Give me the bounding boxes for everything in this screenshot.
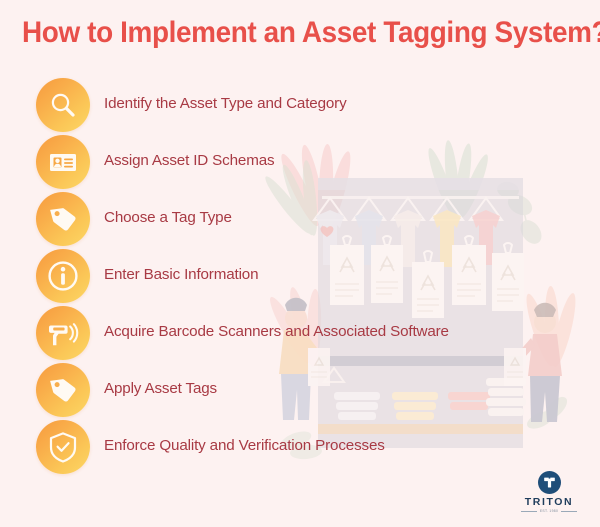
step-row: Enter Basic Information [0, 247, 600, 304]
brand-tagline: EST. 1980 [521, 510, 577, 513]
tagline-rule-left [521, 511, 537, 512]
tag-icon [36, 192, 90, 246]
brand-logo[interactable]: TRITON EST. 1980 [518, 471, 580, 513]
step-label: Choose a Tag Type [104, 210, 232, 227]
step-label: Identify the Asset Type and Category [104, 96, 347, 113]
title-bar: How to Implement an Asset Tagging System… [0, 0, 600, 66]
page-title: How to Implement an Asset Tagging System… [22, 16, 600, 50]
id-card-icon [36, 135, 90, 189]
step-row: Assign Asset ID Schemas [0, 133, 600, 190]
magnifier-icon [36, 78, 90, 132]
step-row: Acquire Barcode Scanners and Associated … [0, 304, 600, 361]
tagline-rule-right [561, 511, 577, 512]
step-row: Enforce Quality and Verification Process… [0, 418, 600, 475]
step-label: Enforce Quality and Verification Process… [104, 438, 385, 455]
step-label: Assign Asset ID Schemas [104, 153, 274, 170]
shield-check-icon [36, 420, 90, 474]
step-label: Apply Asset Tags [104, 381, 217, 398]
step-label: Acquire Barcode Scanners and Associated … [104, 324, 449, 341]
step-row: Identify the Asset Type and Category [0, 76, 600, 133]
steps-list: Identify the Asset Type and Category Ass… [0, 76, 600, 475]
info-icon [36, 249, 90, 303]
step-row: Choose a Tag Type [0, 190, 600, 247]
step-label: Enter Basic Information [104, 267, 258, 284]
barcode-scanner-icon [36, 306, 90, 360]
tagline-text: EST. 1980 [540, 510, 558, 513]
step-row: Apply Asset Tags [0, 361, 600, 418]
brand-name: TRITON [525, 497, 574, 508]
triton-mark-icon [538, 471, 561, 494]
tag-icon [36, 363, 90, 417]
